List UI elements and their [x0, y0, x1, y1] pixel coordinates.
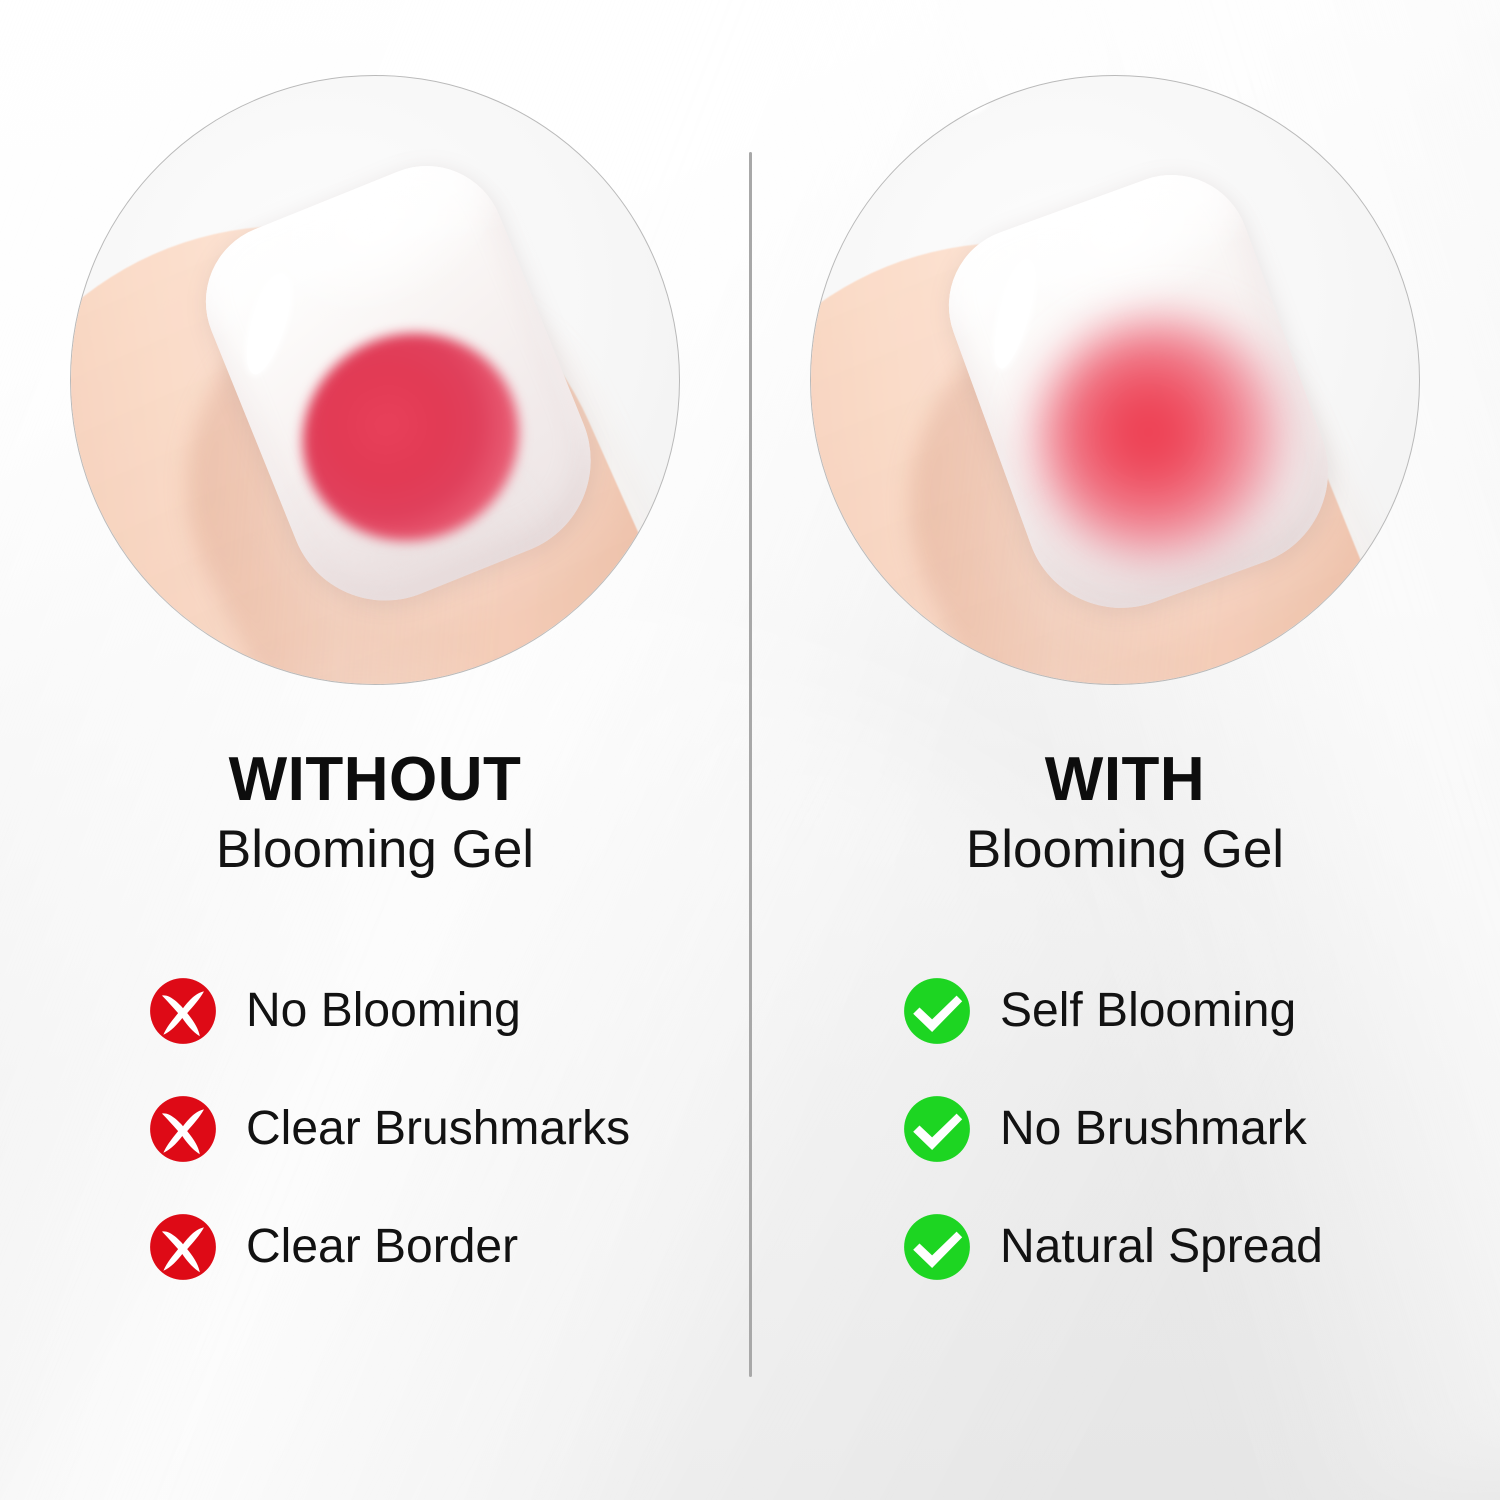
heading-subtitle: Blooming Gel — [750, 821, 1500, 878]
feature-label: Natural Spread — [1000, 1223, 1323, 1271]
feature-label: Clear Border — [246, 1223, 518, 1271]
fingernail-photo-icon-without — [70, 75, 680, 685]
feature-label: No Brushmark — [1000, 1105, 1307, 1153]
nail-free-edge — [182, 142, 504, 343]
list-item: No Blooming — [148, 975, 630, 1047]
cross-circle-icon — [148, 1212, 218, 1282]
feature-label: No Blooming — [246, 987, 521, 1035]
panel-heading-with: WITH Blooming Gel — [750, 748, 1500, 878]
panel-divider — [749, 152, 752, 1377]
list-item: Clear Border — [148, 1211, 630, 1283]
heading-title: WITHOUT — [0, 748, 750, 811]
nail-gloss-fleck — [218, 88, 251, 114]
check-circle-icon — [902, 976, 972, 1046]
check-circle-icon — [902, 1094, 972, 1164]
list-item: No Brushmark — [902, 1093, 1323, 1165]
comparison-stage: WITHOUT Blooming Gel No Blooming — [0, 0, 1500, 1500]
nail-free-edge — [927, 153, 1250, 345]
heading-title: WITH — [750, 748, 1500, 811]
panel-without: WITHOUT Blooming Gel No Blooming — [0, 0, 750, 1500]
feature-list-without: No Blooming Clear Brushmarks — [148, 975, 630, 1283]
feature-list-with: Self Blooming No Brushmark — [902, 975, 1323, 1283]
gel-dot-sharp-border — [271, 301, 550, 574]
list-item: Self Blooming — [902, 975, 1323, 1047]
fingernail-photo-icon-with — [810, 75, 1420, 685]
feature-label: Clear Brushmarks — [246, 1105, 630, 1153]
gel-dot-diffused-bloom — [1003, 282, 1320, 593]
cross-circle-icon — [148, 976, 218, 1046]
heading-subtitle: Blooming Gel — [0, 821, 750, 878]
cross-circle-icon — [148, 1094, 218, 1164]
panel-heading-without: WITHOUT Blooming Gel — [0, 748, 750, 878]
check-circle-icon — [902, 1212, 972, 1282]
list-item: Clear Brushmarks — [148, 1093, 630, 1165]
nail-gloss-fleck — [960, 94, 993, 120]
panel-with: WITH Blooming Gel Self Blooming — [750, 0, 1500, 1500]
list-item: Natural Spread — [902, 1211, 1323, 1283]
feature-label: Self Blooming — [1000, 987, 1296, 1035]
